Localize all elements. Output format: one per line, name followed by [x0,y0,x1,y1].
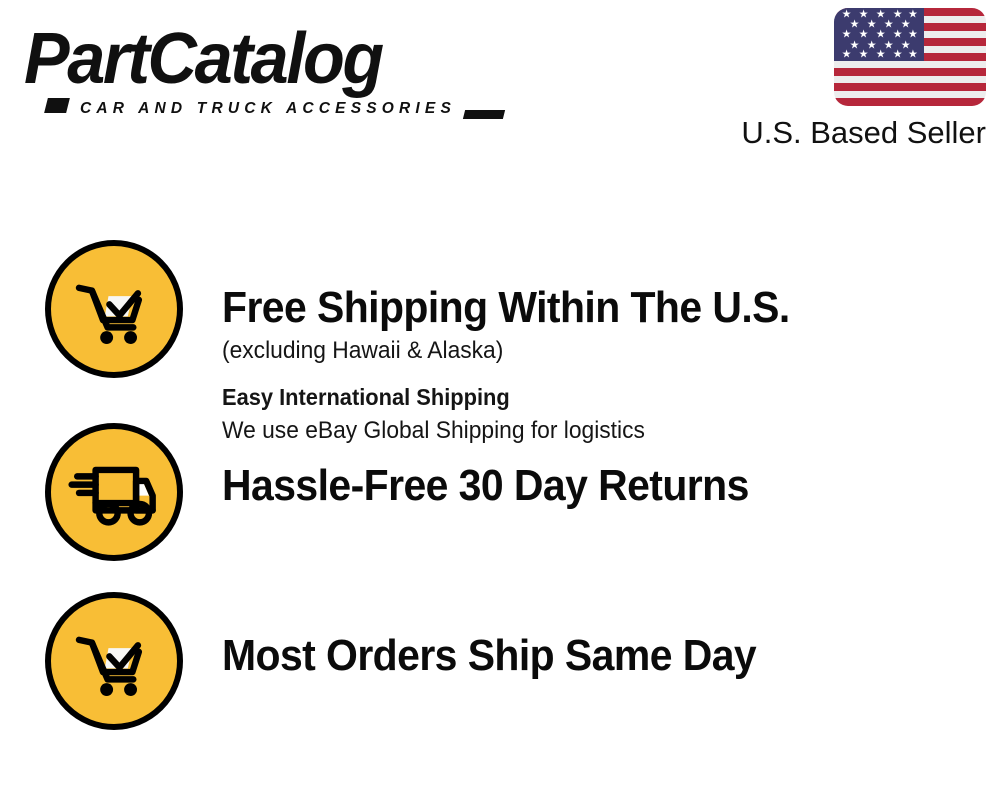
flag-stripe [834,83,986,91]
feature-row: Free Shipping Within The U.S. (excluding… [0,235,1000,410]
flag-stripe [834,68,986,76]
delivery-truck-icon [45,423,183,561]
flag-stripe [834,76,986,84]
flag-canton: ★ ★ ★ ★ ★ ★ ★ ★ ★ ★ ★ ★ ★ ★ ★ ★ ★ ★ ★ ★ [834,8,924,61]
us-flag-icon: ★ ★ ★ ★ ★ ★ ★ ★ ★ ★ ★ ★ ★ ★ ★ ★ ★ ★ ★ ★ [834,8,986,106]
feature-list: Free Shipping Within The U.S. (excluding… [0,175,1000,800]
feature-headline: Most Orders Ship Same Day [222,631,927,681]
logo-swash-right-icon [463,110,505,119]
feature-headline: Free Shipping Within The U.S. [222,283,927,333]
us-based-seller-label: U.S. Based Seller [706,115,986,151]
us-based-seller-badge: ★ ★ ★ ★ ★ ★ ★ ★ ★ ★ ★ ★ ★ ★ ★ ★ ★ ★ ★ ★ [706,8,986,151]
shopping-cart-check-icon [45,240,183,378]
feature-subline: (excluding Hawaii & Alaska) [222,335,942,367]
brand-tagline: CAR AND TRUCK ACCESSORIES [80,100,456,118]
flag-stripe [834,98,986,106]
shopping-cart-check-icon [45,592,183,730]
logo-swash-left-icon [44,98,70,113]
flag-stripe [834,91,986,99]
feature-row: Most Orders Ship Same Day [0,583,1000,748]
page-header: PartCatalog CAR AND TRUCK ACCESSORIES ★ … [0,0,1000,175]
feature-headline: Hassle-Free 30 Day Returns [222,461,927,511]
feature-row: Hassle-Free 30 Day Returns [0,415,1000,575]
feature-text: Most Orders Ship Same Day [222,631,980,681]
feature-text: Hassle-Free 30 Day Returns [222,461,980,511]
brand-logo[interactable]: PartCatalog CAR AND TRUCK ACCESSORIES [24,22,494,117]
feature-subline-strong: Easy International Shipping [222,381,942,413]
brand-wordmark: PartCatalog [24,22,471,96]
flag-stripe [834,61,986,69]
